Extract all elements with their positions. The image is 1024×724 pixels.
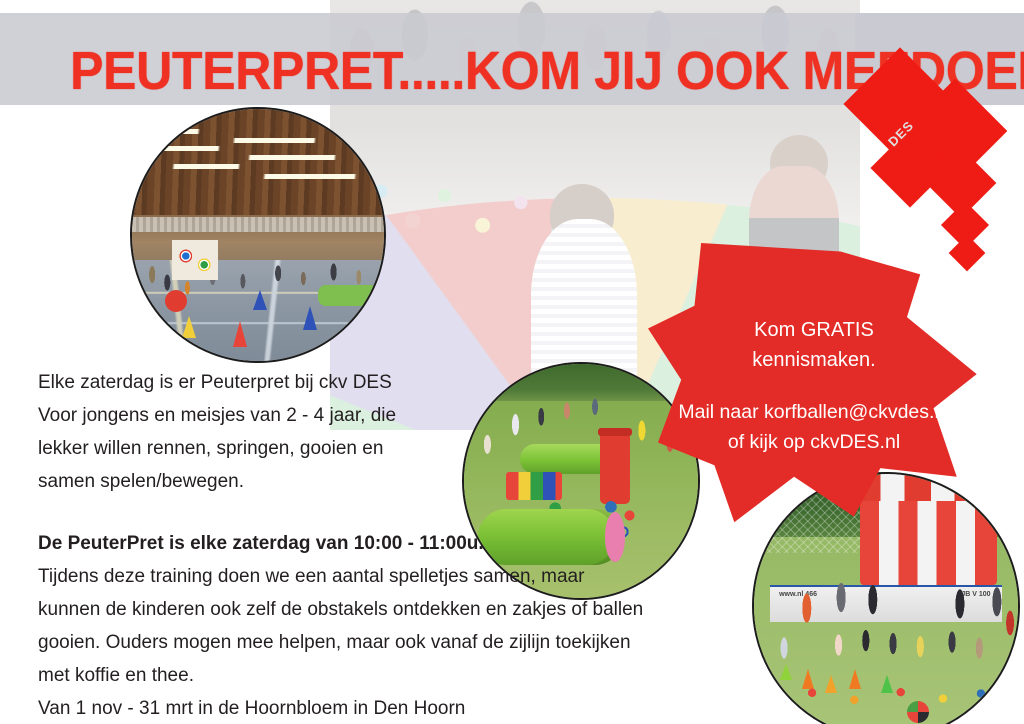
poster-canvas: PEUTERPRET.....KOM JIJ OOK MEEDOEN? DES [0,0,1024,724]
badge-website-line[interactable]: of kijk op ckvDES.nl [728,427,900,457]
gym-green-mat [318,285,378,305]
gym-cone-blue [303,306,317,330]
gym-cone-yellow [182,316,196,338]
details-line-3: gooien. Ouders mogen mee helpen, maar oo… [38,626,678,659]
gymnasium-photo [130,107,386,363]
badge-line-2: kennismaken. [752,345,875,375]
details-line-2: kunnen de kinderen ook zelf de obstakels… [38,593,678,626]
gym-balcony [132,217,384,232]
details-line-4: met koffie en thee. [38,659,678,692]
gym-target-board [172,240,217,280]
intro-line-3: lekker willen rennen, springen, gooien e… [38,432,438,465]
field-large-ball [907,701,929,723]
des-logo: DES [860,48,1024,263]
location-line-1: Van 1 nov - 31 mrt in de Hoornbloem in D… [38,692,678,724]
intro-line-1: Elke zaterdag is er Peuterpret bij ckv D… [38,366,438,399]
field-cone-green [780,664,792,680]
intro-paragraph: Elke zaterdag is er Peuterpret bij ckv D… [38,366,438,498]
gym-ceiling-lights [132,124,384,215]
page-title: PEUTERPRET.....KOM JIJ OOK MEEDOEN? [70,44,814,100]
intro-line-4: samen spelen/bewegen. [38,465,438,498]
gym-cone-blue-2 [253,290,267,310]
field-scattered-balls [791,680,1002,712]
body-copy: Elke zaterdag is er Peuterpret bij ckv D… [38,366,678,724]
cta-badge: Kom GRATIS kennismaken. Mail naar korfba… [648,243,980,528]
paragraph-spacer [38,498,678,527]
badge-line-1: Kom GRATIS [754,315,874,345]
details-paragraph: De PeuterPret is elke zaterdag van 10:00… [38,527,678,724]
badge-email-line[interactable]: Mail naar korfballen@ckvdes.nl [678,397,949,427]
details-line-1: Tijdens deze training doen we een aantal… [38,560,678,593]
times-heading: De PeuterPret is elke zaterdag van 10:00… [38,527,678,560]
intro-line-2: Voor jongens en meisjes van 2 - 4 jaar, … [38,399,438,432]
gym-cone-red [233,321,247,347]
